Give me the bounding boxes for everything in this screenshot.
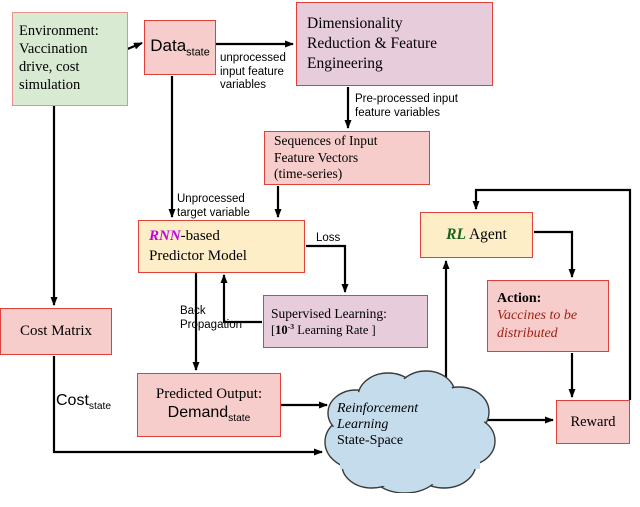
preprocessed-line-2: feature variables: [355, 107, 458, 121]
cost-matrix-label: Cost Matrix: [20, 323, 92, 340]
edge-rlagent-to-action: [534, 232, 572, 277]
diagram-canvas: Environment: Vaccination drive, cost sim…: [0, 0, 640, 507]
predicted-output-line-1: Predicted Output:: [156, 385, 262, 403]
unprocessed-target-line-1: Unprocessed: [177, 193, 250, 207]
dimred-line-3: Engineering: [307, 54, 486, 74]
sequences-line-1: Sequences of Input: [274, 133, 423, 149]
rl-agent-label: RL Agent: [446, 226, 507, 244]
rnn-rest: -based: [181, 228, 220, 244]
unprocessed-input-line-2: input feature: [220, 66, 286, 80]
backprop-line-1: Back: [180, 305, 242, 319]
cloud-text-block: Reinforcement Learning State-Space: [337, 401, 418, 449]
data-state-label: Datastate: [150, 36, 210, 58]
dimred-line-2: Reduction & Feature: [307, 34, 486, 54]
rnn-emphasis: RNN: [149, 228, 181, 244]
edge-rnn-to-supervised: [306, 246, 345, 292]
unprocessed-target-line-2: target variable: [177, 207, 250, 221]
action-line-1: Vaccines to be: [497, 307, 602, 325]
node-rnn-model[interactable]: RNN-based Predictor Model: [138, 220, 305, 273]
label-cost-state: Coststate: [56, 392, 111, 413]
node-rl-agent[interactable]: RL Agent: [420, 212, 533, 258]
node-action[interactable]: Action: Vaccines to be distributed: [487, 280, 609, 352]
supervised-line-2: [10-3 Learning Rate ]: [271, 322, 421, 338]
node-environment[interactable]: Environment: Vaccination drive, cost sim…: [12, 12, 128, 106]
lr-base: 10: [275, 323, 288, 337]
label-unprocessed-target: Unprocessed target variable: [177, 193, 250, 220]
lr-text: Learning Rate: [294, 323, 371, 337]
environment-line-1: Environment:: [19, 23, 121, 41]
data-state-main: Data: [150, 36, 186, 55]
reward-label: Reward: [570, 414, 615, 431]
supervised-line-1: Supervised Learning:: [271, 305, 421, 323]
dimred-line-1: Dimensionality: [307, 14, 486, 34]
predicted-output-demand: Demandstate: [168, 403, 251, 425]
node-data-state[interactable]: Datastate: [144, 20, 216, 75]
environment-line-3: drive, cost: [19, 59, 121, 77]
cost-state-main: Cost: [56, 392, 89, 409]
rnn-line-2: Predictor Model: [149, 247, 298, 267]
node-predicted-output[interactable]: Predicted Output: Demandstate: [137, 373, 281, 437]
node-sequences[interactable]: Sequences of Input Feature Vectors (time…: [264, 131, 430, 185]
unprocessed-input-line-3: variables: [220, 79, 286, 93]
node-dimensionality-reduction[interactable]: Dimensionality Reduction & Feature Engin…: [296, 2, 493, 86]
cloud-line-3: State-Space: [337, 433, 418, 449]
rnn-line-1: RNN-based: [149, 227, 298, 247]
cloud-line-2: Learning: [337, 417, 418, 433]
action-line-2: distributed: [497, 325, 602, 343]
cost-state-subscript: state: [89, 401, 111, 412]
preprocessed-line-1: Pre-processed input: [355, 93, 458, 107]
node-cost-matrix[interactable]: Cost Matrix: [0, 308, 112, 355]
demand-main: Demand: [168, 404, 228, 421]
action-heading: Action:: [497, 290, 602, 308]
sequences-line-3: (time-series): [274, 166, 423, 182]
data-state-subscript: state: [186, 47, 210, 59]
node-supervised-learning[interactable]: Supervised Learning: [10-3 Learning Rate…: [263, 295, 428, 348]
unprocessed-input-line-1: unprocessed: [220, 52, 286, 66]
label-loss: Loss: [316, 232, 340, 246]
rl-emphasis: RL: [446, 226, 466, 243]
label-back-propagation: Back Propagation: [180, 305, 242, 332]
sequences-line-2: Feature Vectors: [274, 150, 423, 166]
environment-line-4: simulation: [19, 77, 121, 95]
label-unprocessed-input: unprocessed input feature variables: [220, 52, 286, 93]
node-reward[interactable]: Reward: [556, 400, 630, 444]
demand-subscript: state: [228, 413, 250, 424]
bracket-close: ]: [372, 323, 376, 337]
environment-line-2: Vaccination: [19, 41, 121, 59]
rl-agent-rest: Agent: [466, 226, 507, 243]
loss-line-1: Loss: [316, 232, 340, 246]
backprop-line-2: Propagation: [180, 319, 242, 333]
label-preprocessed-input: Pre-processed input feature variables: [355, 93, 458, 120]
cloud-line-1: Reinforcement: [337, 401, 418, 417]
